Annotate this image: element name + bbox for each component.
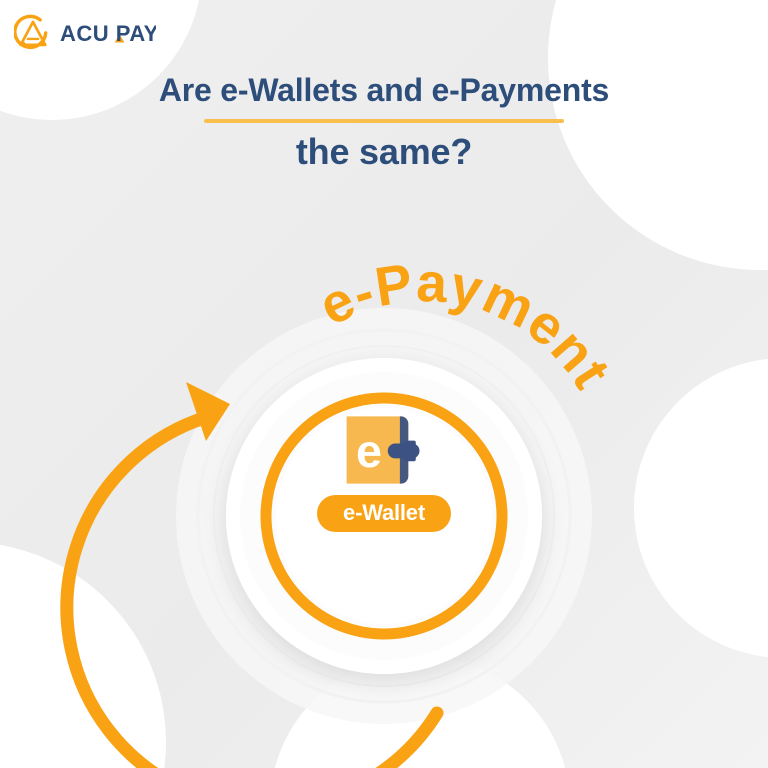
acupay-logo-icon [14, 14, 52, 52]
headline-block: Are e-Wallets and e-Payments the same? [0, 72, 768, 172]
headline-line-1: Are e-Wallets and e-Payments [0, 72, 768, 109]
wallet-clasp-tab [405, 441, 416, 462]
e-wallet-icon: e [341, 412, 427, 488]
headline-line-2: the same? [0, 131, 768, 172]
svg-text:ACU PAY: ACU PAY [60, 21, 156, 46]
wallet-letter: e [356, 425, 382, 477]
headline-divider [204, 119, 564, 123]
brand-wordmark: ACU PAY [60, 20, 156, 46]
ewallet-pill-label: e-Wallet [317, 495, 451, 532]
ewallet-badge: e e-Wallet [271, 412, 497, 532]
brand-logo[interactable]: ACU PAY [14, 14, 156, 52]
brand-name: ACU PAY [60, 20, 156, 46]
poster-canvas: ACU PAY Are e-Wallets and e-Payments the… [0, 0, 768, 768]
